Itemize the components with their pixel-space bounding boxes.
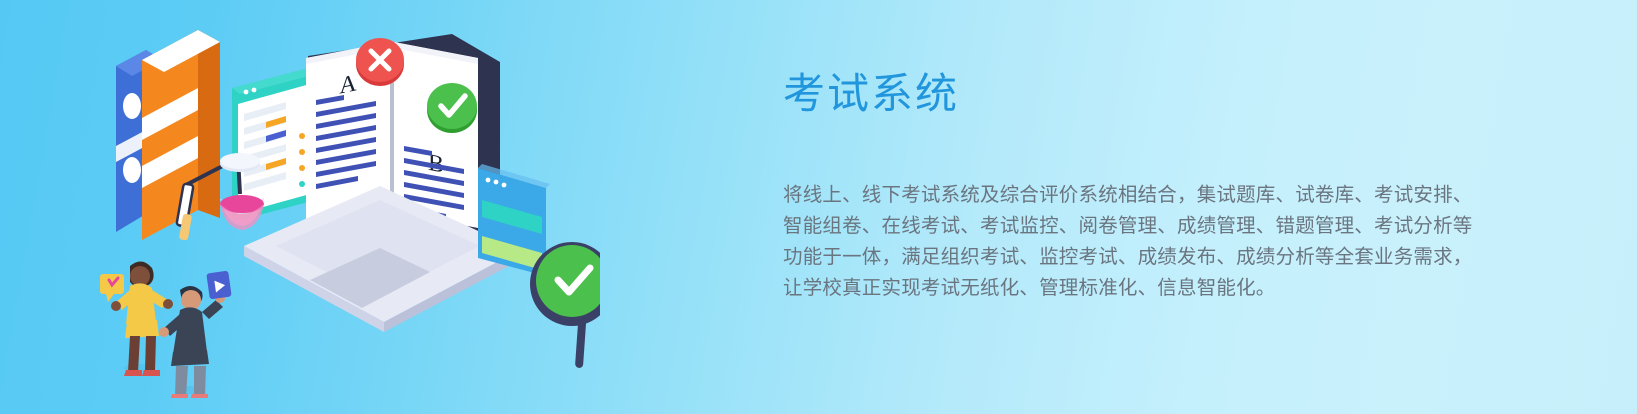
description-line-3: 功能于一体，满足组织考试、监控考试、成绩发布、成绩分析等全套业务需求， <box>783 242 1503 273</box>
book-option-a-label: A <box>339 69 357 99</box>
page-title: 考试系统 <box>783 70 1503 118</box>
person-man-icon <box>159 271 232 398</box>
person-woman-icon <box>100 261 173 376</box>
banner-copy: 考试系统 将线上、线下考试系统及综合评价系统相结合，集试题库、试卷库、考试安排、… <box>783 70 1503 304</box>
magnifier-check-icon <box>530 242 600 368</box>
banner-description: 将线上、线下考试系统及综合评价系统相结合，集试题库、试卷库、考试安排、 智能组卷… <box>783 180 1503 304</box>
wrong-answer-badge-icon <box>356 38 404 86</box>
exam-system-illustration: A B <box>80 18 600 398</box>
description-line-2: 智能组卷、在线考试、考试监控、阅卷管理、成绩管理、错题管理、考试分析等 <box>783 211 1503 242</box>
description-line-4: 让学校真正实现考试无纸化、管理标准化、信息智能化。 <box>783 273 1503 304</box>
description-line-1: 将线上、线下考试系统及综合评价系统相结合，集试题库、试卷库、考试安排、 <box>783 180 1503 211</box>
exam-system-banner: A B <box>0 0 1637 414</box>
correct-answer-badge-icon <box>427 83 477 133</box>
